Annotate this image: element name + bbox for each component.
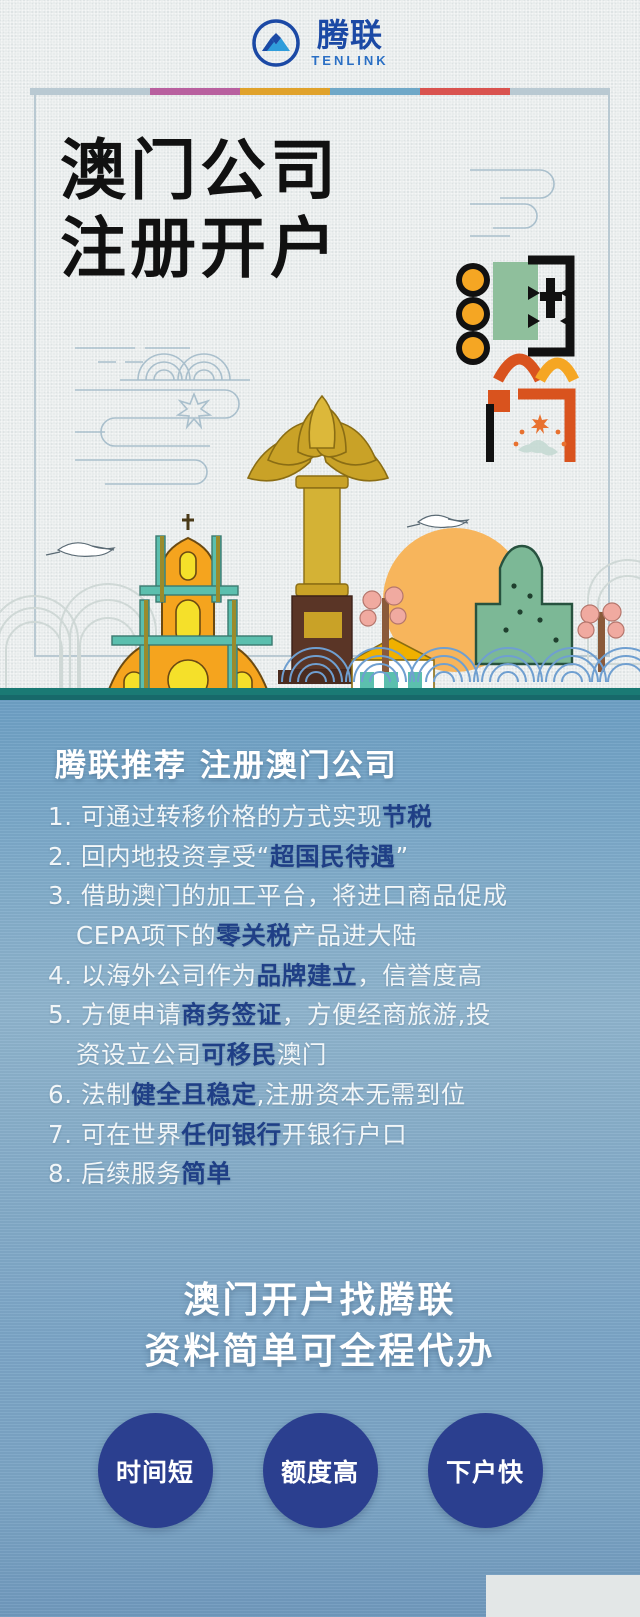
benefit-item: 1. 可通过转移价格的方式实现节税 (48, 797, 604, 837)
item-number: 1. (48, 802, 73, 831)
badge-row: 时间短额度高下户快 (0, 1413, 640, 1528)
hero-title-line1: 澳门公司 (60, 132, 340, 210)
body-text: 资设立公司 (76, 1040, 202, 1069)
body-text: 后续服务 (81, 1159, 181, 1188)
item-number: 3. (48, 881, 73, 910)
body-text: CEPA项下的 (76, 921, 216, 950)
cta-block: 澳门开户找腾联 资料简单可全程代办 (0, 1275, 640, 1377)
benefit-item: 2. 回内地投资享受“超国民待遇” (48, 837, 604, 877)
feature-badge[interactable]: 下户快 (428, 1413, 543, 1528)
feature-badge[interactable]: 额度高 (263, 1413, 378, 1528)
item-continuation: CEPA项下的零关税产品进大陆 (48, 916, 604, 956)
body-text: ，信誉度高 (357, 961, 483, 990)
body-text: 可通过转移价格的方式实现 (81, 802, 382, 831)
benefit-item: 8. 后续服务简单 (48, 1154, 604, 1194)
highlight-keyword: 品牌建立 (257, 961, 357, 990)
cta-line-2: 资料简单可全程代办 (0, 1326, 640, 1377)
bottom-white-block (486, 1575, 640, 1617)
benefit-list: 1. 可通过转移价格的方式实现节税2. 回内地投资享受“超国民待遇”3. 借助澳… (48, 797, 604, 1194)
highlight-keyword: 零关税 (216, 921, 291, 950)
body-text: 产品进大陆 (292, 921, 418, 950)
benefit-item: 6. 法制健全且稳定,注册资本无需到位 (48, 1075, 604, 1115)
cta-line-1: 澳门开户找腾联 (0, 1275, 640, 1326)
body-text: 可在世界 (81, 1120, 181, 1149)
ruins-of-st-pauls-icon (108, 514, 272, 700)
highlight-keyword: 简单 (181, 1159, 231, 1188)
highlight-keyword: 任何银行 (181, 1120, 281, 1149)
body-text: 以海外公司作为 (81, 961, 257, 990)
item-number: 2. (48, 842, 73, 871)
highlight-keyword: 健全且稳定 (131, 1080, 257, 1109)
body-text: 澳门 (277, 1040, 327, 1069)
body-text: ,注册资本无需到位 (257, 1080, 466, 1109)
benefit-item: 3. 借助澳门的加工平台，将进口商品促成CEPA项下的零关税产品进大陆 (48, 876, 604, 955)
hero-section: 腾联 TENLINK (0, 0, 640, 700)
highlight-keyword: 超国民待遇 (270, 842, 396, 871)
benefit-item: 5. 方便申请商务签证，方便经商旅游,投资设立公司可移民澳门 (48, 995, 604, 1074)
benefit-item: 4. 以海外公司作为品牌建立，信誉度高 (48, 956, 604, 996)
body-text: 回内地投资享受“ (81, 842, 270, 871)
item-number: 8. (48, 1159, 73, 1188)
item-number: 6. (48, 1080, 73, 1109)
item-number: 5. (48, 1000, 73, 1029)
section-divider (0, 695, 640, 700)
highlight-keyword: 可移民 (202, 1040, 277, 1069)
item-number: 4. (48, 961, 73, 990)
hero-title-line2: 注册开户 (60, 210, 340, 288)
body-text: ，方便经商旅游,投 (282, 1000, 491, 1029)
crane-bird-icon (46, 543, 114, 557)
item-continuation: 资设立公司可移民澳门 (48, 1035, 604, 1075)
body-text: 法制 (81, 1080, 131, 1109)
body-text: ” (395, 842, 408, 871)
hero-illustration (0, 300, 640, 700)
section-heading: 腾联推荐 注册澳门公司 (55, 740, 398, 785)
poster-root: 腾联 TENLINK (0, 0, 640, 1617)
feature-badge[interactable]: 时间短 (98, 1413, 213, 1528)
content-section: 腾联推荐 注册澳门公司 1. 可通过转移价格的方式实现节税2. 回内地投资享受“… (0, 695, 640, 1617)
highlight-keyword: 商务签证 (181, 1000, 281, 1029)
highlight-keyword: 节税 (382, 802, 432, 831)
crane-bird-icon-2 (407, 515, 468, 527)
body-text: 开银行户口 (282, 1120, 408, 1149)
item-number: 7. (48, 1120, 73, 1149)
body-text: 方便申请 (81, 1000, 181, 1029)
hero-title: 澳门公司 注册开户 (60, 132, 340, 288)
body-text: 借助澳门的加工平台，将进口商品促成 (81, 881, 508, 910)
benefit-item: 7. 可在世界任何银行开银行户口 (48, 1115, 604, 1155)
